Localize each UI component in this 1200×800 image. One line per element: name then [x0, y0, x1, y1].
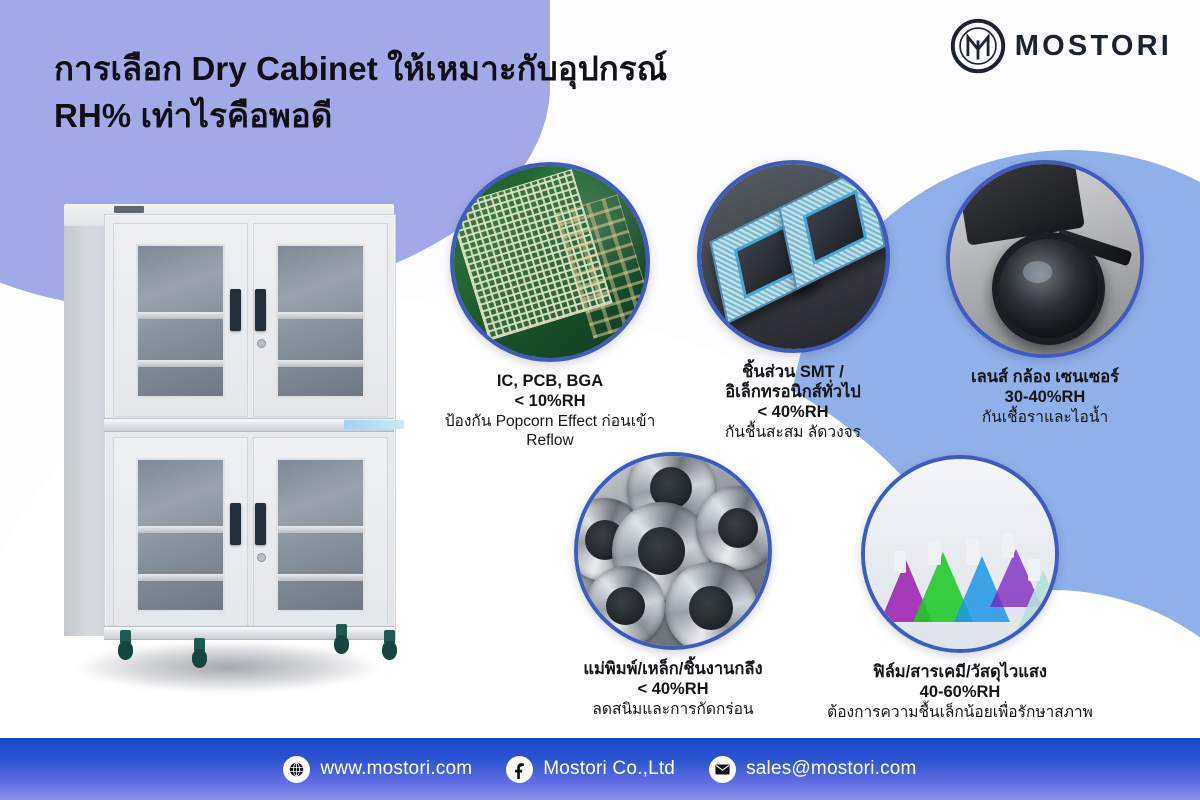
- item-rh-value: 30-40%RH: [920, 387, 1170, 407]
- mostori-m-circle-logo-icon: [950, 18, 1006, 74]
- cabinet-shelf: [278, 574, 363, 581]
- footer-website[interactable]: www.mostori.com: [283, 756, 472, 783]
- camera-gear-graphic: [950, 164, 1140, 354]
- cabinet-control-panel: [344, 420, 404, 429]
- cabinet-door-upper-left: [113, 223, 248, 417]
- item-ic-pcb-bga: IC, PCB, BGA < 10%RH ป้องกัน Popcorn Eff…: [425, 162, 675, 451]
- cabinet-handle: [255, 503, 266, 545]
- item-caption: ชิ้นส่วน SMT / อิเล็กทรอนิกส์ทั่วไป < 40…: [673, 362, 913, 443]
- cabinet-brand-badge: [114, 206, 144, 213]
- item-caption: ฟิล์ม/สารเคมี/วัสดุไวแสง 40-60%RH ต้องกา…: [815, 662, 1105, 723]
- item-rh-value: < 10%RH: [425, 391, 675, 411]
- flask-neck-graphic: [1028, 559, 1040, 581]
- cabinet-shelf: [138, 312, 223, 319]
- brand-logo: MOSTORI: [950, 18, 1172, 74]
- page-title: การเลือก Dry Cabinet ให้เหมาะกับอุปกรณ์ …: [54, 46, 667, 140]
- item-rh-value: 40-60%RH: [815, 682, 1105, 702]
- infographic-canvas: การเลือก Dry Cabinet ให้เหมาะกับอุปกรณ์ …: [0, 0, 1200, 800]
- footer-facebook[interactable]: Mostori Co.,Ltd: [506, 756, 675, 783]
- chemistry-flasks-photo: [861, 455, 1059, 653]
- cabinet-shelf: [278, 526, 363, 533]
- item-title: IC, PCB, BGA: [425, 371, 675, 391]
- facebook-icon: [506, 756, 533, 783]
- title-line-1: การเลือก Dry Cabinet ให้เหมาะกับอุปกรณ์: [54, 46, 667, 93]
- item-note-line-1: ป้องกัน Popcorn Effect ก่อนเข้า: [425, 413, 675, 432]
- item-note-line-1: ต้องการความชื้นเล็กน้อยเพื่อรักษาสภาพ: [815, 704, 1105, 723]
- camera-lens-sensor-photo: [946, 160, 1144, 358]
- flask-neck-graphic: [1002, 534, 1014, 558]
- item-note-line-1: กันเชื้อราและไอน้ำ: [920, 409, 1170, 428]
- smt-chip-photo: [697, 160, 890, 353]
- item-caption: เลนส์ กล้อง เซนเซอร์ 30-40%RH กันเชื้อรา…: [920, 367, 1170, 428]
- item-rh-value: < 40%RH: [673, 402, 913, 422]
- item-smt-electronics: ชิ้นส่วน SMT / อิเล็กทรอนิกส์ทั่วไป < 40…: [673, 160, 913, 443]
- item-caption: IC, PCB, BGA < 10%RH ป้องกัน Popcorn Eff…: [425, 371, 675, 451]
- pcb-board-graphic: [454, 166, 646, 358]
- item-note-line-1: กันชื้นสะสม ลัดวงจร: [673, 424, 913, 443]
- dry-cabinet-image: [52, 190, 412, 710]
- cabinet-shelf: [138, 360, 223, 367]
- smt-chips-graphic: [701, 164, 886, 349]
- cabinet-upper-section: [105, 215, 395, 425]
- cabinet-base-rail: [104, 626, 394, 640]
- smt-chip-graphic: [778, 164, 886, 290]
- item-note-line-1: ลดสนิมและการกัดกร่อน: [548, 701, 798, 720]
- item-note-line-2: Reflow: [425, 432, 675, 451]
- footer-website-label: www.mostori.com: [320, 758, 472, 780]
- cabinet-caster: [192, 638, 207, 668]
- cabinet-handle: [230, 503, 241, 545]
- metal-ring-graphic: [696, 486, 772, 570]
- item-title-line-2: อิเล็กทรอนิกส์ทั่วไป: [673, 382, 913, 402]
- cabinet-caster: [334, 624, 349, 654]
- cabinet-caster: [382, 630, 397, 660]
- ic-pcb-bga-photo: [450, 162, 650, 362]
- cabinet-handle: [255, 289, 266, 331]
- cabinet-shelf: [138, 526, 223, 533]
- cabinet-door-upper-right: [253, 223, 388, 417]
- footer-email[interactable]: sales@mostori.com: [709, 756, 917, 783]
- cabinet-glass-upper-left: [136, 244, 225, 398]
- item-title: ฟิล์ม/สารเคมี/วัสดุไวแสง: [815, 662, 1105, 682]
- cabinet-lock: [257, 553, 266, 562]
- flask-neck-graphic: [894, 551, 906, 573]
- cabinet-shelf: [138, 574, 223, 581]
- title-line-2: RH% เท่าไรคือพอดี: [54, 93, 667, 140]
- cabinet-handle: [230, 289, 241, 331]
- cabinet-lock: [257, 339, 266, 348]
- cabinet-shelf: [278, 360, 363, 367]
- item-camera-lens-sensor: เลนส์ กล้อง เซนเซอร์ 30-40%RH กันเชื้อรา…: [920, 160, 1170, 428]
- item-mold-metal-machined: แม่พิมพ์/เหล็ก/ชิ้นงานกลึง < 40%RH ลดสนิ…: [548, 452, 798, 720]
- item-caption: แม่พิมพ์/เหล็ก/ชิ้นงานกลึง < 40%RH ลดสนิ…: [548, 659, 798, 720]
- item-rh-value: < 40%RH: [548, 679, 798, 699]
- cabinet-glass-lower-right: [276, 458, 365, 612]
- cabinet-caster: [118, 630, 133, 660]
- cabinet-glass-upper-right: [276, 244, 365, 398]
- footer-email-label: sales@mostori.com: [746, 758, 917, 780]
- lab-flasks-graphic: [865, 459, 1055, 649]
- brand-logo-text: MOSTORI: [1015, 30, 1172, 63]
- cabinet-door-lower-right: [253, 437, 388, 631]
- metal-ring-graphic: [665, 562, 756, 650]
- item-title: แม่พิมพ์/เหล็ก/ชิ้นงานกลึง: [548, 659, 798, 679]
- item-film-chemicals-photosensitive: ฟิล์ม/สารเคมี/วัสดุไวแสง 40-60%RH ต้องกา…: [815, 455, 1105, 723]
- metal-parts-graphic: [578, 456, 768, 646]
- flask-neck-graphic: [966, 539, 979, 565]
- cabinet-lower-section: [105, 429, 395, 639]
- cabinet-shelf: [278, 312, 363, 319]
- camera-lens-graphic: [992, 232, 1105, 345]
- footer-facebook-label: Mostori Co.,Ltd: [543, 758, 675, 780]
- cabinet-glass-lower-left: [136, 458, 225, 612]
- metal-machined-parts-photo: [574, 452, 772, 650]
- cabinet-door-lower-left: [113, 437, 248, 631]
- metal-ring-graphic: [586, 566, 666, 646]
- item-title: เลนส์ กล้อง เซนเซอร์: [920, 367, 1170, 387]
- cabinet-side-panel: [64, 216, 108, 636]
- footer-contact-bar: www.mostori.com Mostori Co.,Ltd sales@mo…: [0, 738, 1200, 800]
- item-title-line-1: ชิ้นส่วน SMT /: [673, 362, 913, 382]
- flask-neck-graphic: [928, 541, 941, 565]
- globe-icon: [283, 756, 310, 783]
- envelope-icon: [709, 756, 736, 783]
